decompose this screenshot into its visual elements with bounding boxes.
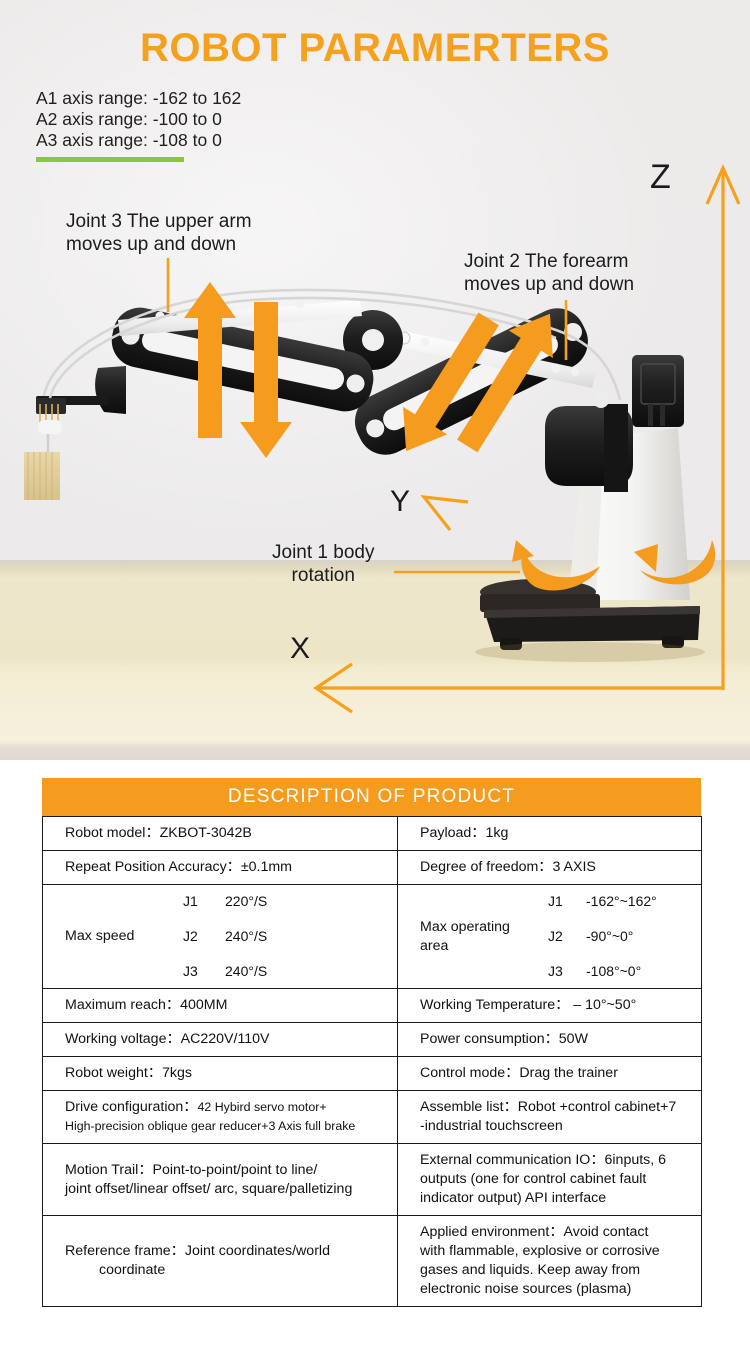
operating-area-j1-joint: J1: [548, 892, 586, 911]
operating-area-j3-joint: J3: [548, 962, 586, 981]
max-speed-j3-joint: J3: [183, 962, 225, 981]
operating-area-j2-joint: J2: [548, 927, 586, 946]
reference-frame-line2: coordinate: [65, 1261, 397, 1280]
axis-arrow-x: [316, 664, 723, 712]
external-io-line3: indicator output) API interface: [420, 1189, 701, 1208]
max-operating-area-label: Max operating area: [420, 918, 548, 956]
max-speed-j2-value: 240°/S: [225, 927, 397, 946]
cell-max-operating-area: Max operating area J1 -162°~162° J2 -90°…: [398, 885, 702, 989]
cell-degree-of-freedom: Degree of freedom：3 AXIS: [398, 851, 702, 885]
cell-working-voltage: Working voltage：AC220V/110V: [43, 1023, 398, 1057]
robot-end-effector: [24, 366, 126, 500]
table-row: Working voltage：AC220V/110V Power consum…: [43, 1023, 702, 1057]
cell-applied-environment: Applied environment：Avoid contact with f…: [398, 1216, 702, 1307]
reference-frame-line1: Reference frame：Joint coordinates/world: [65, 1242, 397, 1261]
cell-robot-model: Robot model：ZKBOT-3042B: [43, 817, 398, 851]
product-spec-page: ROBOT PARAMERTERS A1 axis range: -162 to…: [0, 0, 750, 1367]
applied-env-line2: with flammable, explosive or corrosive: [420, 1242, 701, 1261]
cell-external-communication-io: External communication IO：6inputs, 6 out…: [398, 1144, 702, 1216]
table-row: Reference frame：Joint coordinates/world …: [43, 1216, 702, 1307]
cell-maximum-reach: Maximum reach：400MM: [43, 989, 398, 1023]
table-row: Max speed J1 220°/S J2 240°/S J3 240°/S …: [43, 885, 702, 989]
drive-config-label: Drive configuration：: [65, 1099, 197, 1115]
cell-motion-trail: Motion Trail：Point-to-point/point to lin…: [43, 1144, 398, 1216]
axis-arrow-y: [424, 497, 468, 530]
table-row: Robot weight：7kgs Control mode：Drag the …: [43, 1057, 702, 1091]
max-speed-j3-value: 240°/S: [225, 962, 397, 981]
operating-area-j1-value: -162°~162°: [586, 892, 701, 911]
table-row: Maximum reach：400MM Working Temperature：…: [43, 989, 702, 1023]
cell-drive-configuration: Drive configuration：42 Hybird servo moto…: [43, 1091, 398, 1144]
cell-power-consumption: Power consumption：50W: [398, 1023, 702, 1057]
motion-trail-line1: Motion Trail：Point-to-point/point to lin…: [65, 1161, 397, 1180]
robot-shoulder-motor: [545, 392, 633, 492]
table-row: Motion Trail：Point-to-point/point to lin…: [43, 1144, 702, 1216]
external-io-line2: outputs (one for control cabinet fault: [420, 1170, 701, 1189]
cell-working-temperature: Working Temperature： – 10°~50°: [398, 989, 702, 1023]
max-speed-j1-joint: J1: [183, 892, 225, 911]
cell-max-speed: Max speed J1 220°/S J2 240°/S J3 240°/S: [43, 885, 398, 989]
external-io-line1: External communication IO：6inputs, 6: [420, 1151, 701, 1170]
max-speed-label: Max speed: [65, 927, 183, 946]
robot-arm-illustration: [0, 0, 750, 760]
table-row: Repeat Position Accuracy：±0.1mm Degree o…: [43, 851, 702, 885]
drive-config-value1: 42 Hybird servo motor+: [197, 1100, 326, 1114]
assemble-list-line2: -industrial touchscreen: [420, 1117, 701, 1136]
max-speed-j1-value: 220°/S: [225, 892, 397, 911]
max-speed-j2-joint: J2: [183, 927, 225, 946]
cell-assemble-list: Assemble list：Robot +control cabinet+7 -…: [398, 1091, 702, 1144]
cell-control-mode: Control mode：Drag the trainer: [398, 1057, 702, 1091]
robot-photo-hero: ROBOT PARAMERTERS A1 axis range: -162 to…: [0, 0, 750, 760]
operating-area-j2-value: -90°~0°: [586, 927, 701, 946]
table-row: Robot model：ZKBOT-3042B Payload：1kg: [43, 817, 702, 851]
drive-config-line1: Drive configuration：42 Hybird servo moto…: [65, 1098, 397, 1117]
applied-env-line1: Applied environment：Avoid contact: [420, 1223, 701, 1242]
cell-payload: Payload：1kg: [398, 817, 702, 851]
assemble-list-line1: Assemble list：Robot +control cabinet+7: [420, 1098, 701, 1117]
motion-trail-line2: joint offset/linear offset/ arc, square/…: [65, 1180, 397, 1199]
operating-area-j3-value: -108°~0°: [586, 962, 701, 981]
drive-config-line2: High-precision oblique gear reducer+3 Ax…: [65, 1117, 397, 1136]
cell-repeat-accuracy: Repeat Position Accuracy：±0.1mm: [43, 851, 398, 885]
cell-robot-weight: Robot weight：7kgs: [43, 1057, 398, 1091]
product-description-table-wrapper: DESCRIPTION OF PRODUCT Robot model：ZKBOT…: [42, 778, 701, 1307]
cell-reference-frame: Reference frame：Joint coordinates/world …: [43, 1216, 398, 1307]
applied-env-line4: electronic noise sources (plasma): [420, 1280, 701, 1299]
spec-table: Robot model：ZKBOT-3042B Payload：1kg Repe…: [42, 816, 702, 1307]
applied-env-line3: gases and liquids. Keep away from: [420, 1261, 701, 1280]
table-row: Drive configuration：42 Hybird servo moto…: [43, 1091, 702, 1144]
table-header-banner: DESCRIPTION OF PRODUCT: [42, 778, 701, 816]
axis-arrow-z: [707, 168, 739, 690]
